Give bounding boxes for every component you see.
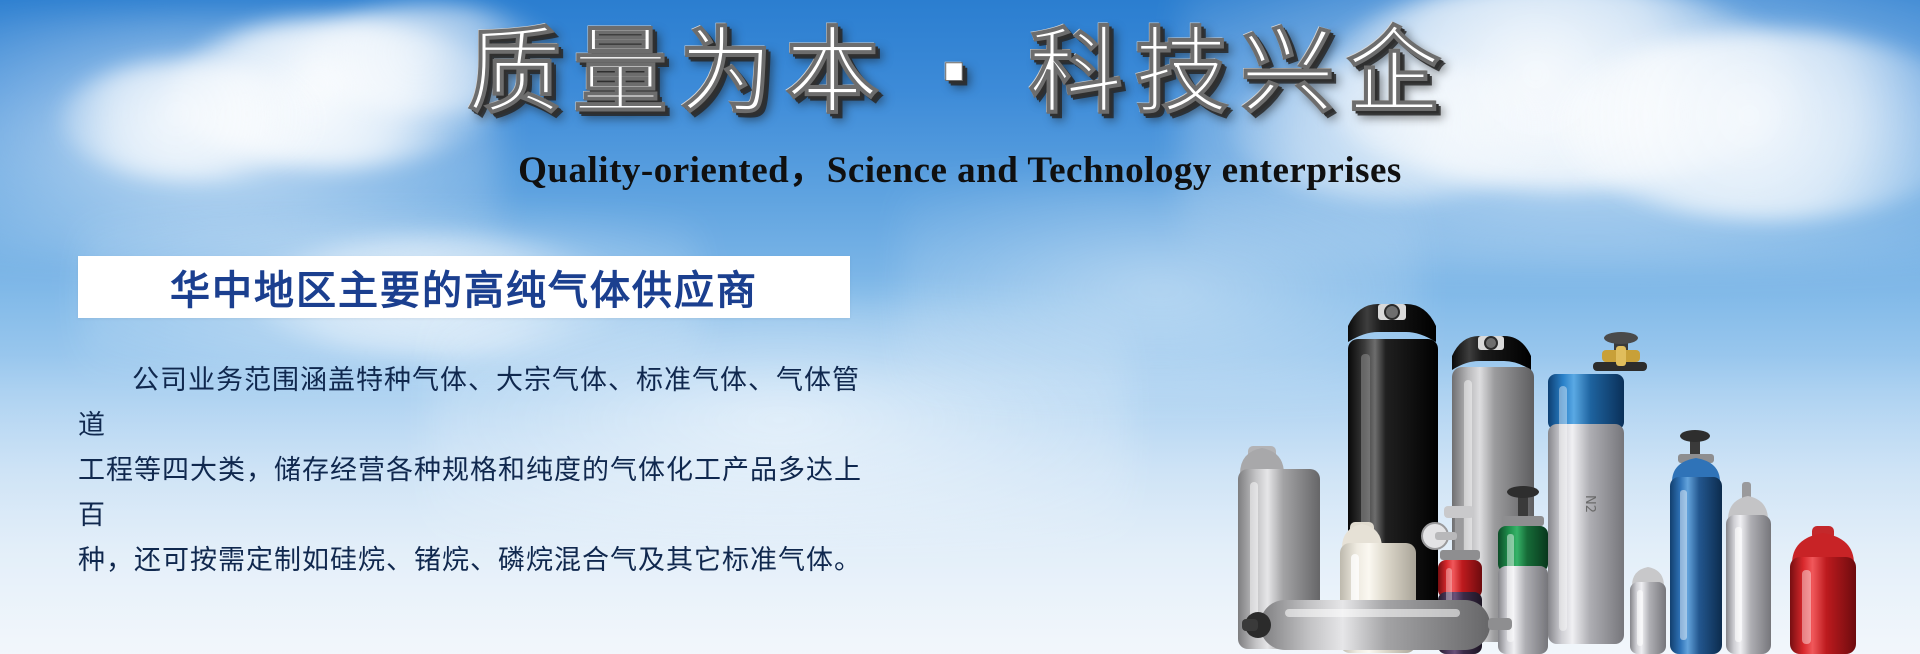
description-paragraph: 公司业务范围涵盖特种气体、大宗气体、标准气体、气体管道 工程等四大类，储存经营各… — [78, 358, 868, 583]
paragraph-line-2: 工程等四大类，储存经营各种规格和纯度的气体化工产品多达上百 — [78, 448, 868, 538]
svg-text:N2: N2 — [1582, 495, 1597, 513]
cylinder-aluminium-small — [1630, 567, 1666, 654]
callout-box: 华中地区主要的高纯气体供应商 — [78, 256, 850, 318]
callout-text: 华中地区主要的高纯气体供应商 — [170, 258, 758, 316]
promo-banner: 质量为本 · 科技兴企 Quality-oriented，Science and… — [0, 0, 1920, 654]
cylinder-red-large — [1790, 526, 1856, 654]
paragraph-line-3: 种，还可按需定制如硅烷、锗烷、磷烷混合气及其它标准气体。 — [78, 538, 868, 583]
cylinder-horizontal-grey — [1242, 600, 1512, 650]
paragraph-line-1: 公司业务范围涵盖特种气体、大宗气体、标准气体、气体管道 — [78, 358, 868, 448]
cylinder-silver-slim — [1726, 482, 1771, 654]
gas-cylinder-product-group: N2 — [1230, 234, 1920, 654]
cylinder-blue-slim — [1670, 430, 1722, 654]
